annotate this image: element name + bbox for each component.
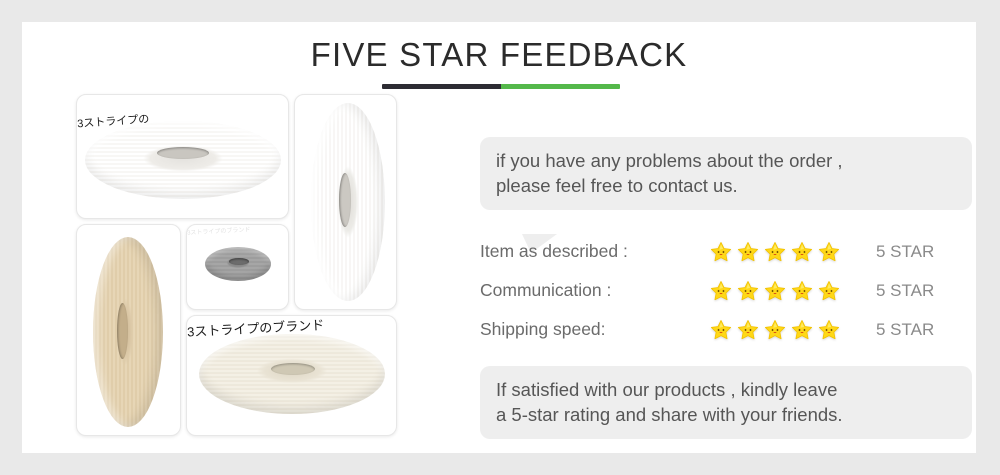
rating-label: Communication : — [480, 280, 710, 301]
star-icon — [764, 241, 786, 263]
product-photo-cream-roll[interactable]: 3ストライプのブランド — [186, 315, 397, 436]
rating-value: 5 STAR — [850, 281, 934, 301]
star-icon — [710, 319, 732, 341]
review-request-bubble: If satisfied with our products , kindly … — [480, 366, 972, 439]
roll-core — [339, 173, 351, 227]
review-request-line1: If satisfied with our products , kindly … — [496, 379, 837, 400]
content-card: FIVE STAR FEEDBACK のブランド 3ストライプの 3スト 3スト… — [22, 22, 976, 453]
star-rating[interactable] — [710, 319, 850, 341]
star-icon — [710, 241, 732, 263]
star-rating[interactable] — [710, 241, 850, 263]
star-icon — [791, 241, 813, 263]
title-underline — [382, 84, 620, 89]
product-photo-beige-roll[interactable]: 3ストライプ — [76, 224, 181, 436]
contact-message-line1: if you have any problems about the order… — [496, 150, 843, 171]
roll-core — [117, 303, 128, 359]
star-icon — [764, 319, 786, 341]
roll-label-side: 3ストライプ — [76, 225, 77, 328]
roll-label: 3ストライプのブランド — [187, 224, 288, 237]
product-photo-white-roll-horizontal[interactable]: のブランド 3ストライプの — [76, 94, 289, 219]
webbing-roll-cream — [199, 334, 385, 414]
star-icon — [737, 319, 759, 341]
star-icon — [737, 280, 759, 302]
rating-row: Shipping speed: 5 STAR — [480, 310, 972, 349]
rating-value: 5 STAR — [850, 320, 934, 340]
feedback-panel: if you have any problems about the order… — [474, 114, 976, 434]
feedback-banner: FIVE STAR FEEDBACK のブランド 3ストライプの 3スト 3スト… — [0, 0, 1000, 475]
webbing-roll-beige — [93, 237, 163, 427]
star-rating[interactable] — [710, 280, 850, 302]
star-icon — [710, 280, 732, 302]
roll-label-side: 3ストライプのブランド — [294, 108, 295, 209]
contact-message-bubble: if you have any problems about the order… — [480, 137, 972, 210]
star-icon — [818, 241, 840, 263]
rating-label: Shipping speed: — [480, 319, 710, 340]
star-icon — [791, 280, 813, 302]
roll-core — [157, 147, 209, 159]
product-photo-gray-roll[interactable]: 3ストライプのブランド — [186, 224, 289, 310]
star-icon — [764, 280, 786, 302]
webbing-roll-gray — [205, 247, 271, 281]
review-request-line2: a 5-star rating and share with your frie… — [496, 402, 956, 427]
webbing-roll-white — [85, 121, 281, 199]
rating-row: Item as described : 5 STAR — [480, 232, 972, 271]
title-underline-green — [501, 84, 620, 89]
star-icon — [737, 241, 759, 263]
contact-message-line2: please feel free to contact us. — [496, 173, 956, 198]
rating-row: Communication : 5 STAR — [480, 271, 972, 310]
star-icon — [791, 319, 813, 341]
rating-list: Item as described : 5 STAR Communication… — [480, 232, 972, 349]
title-underline-dark — [382, 84, 501, 89]
rating-label: Item as described : — [480, 241, 710, 262]
roll-core — [271, 363, 315, 375]
page-title: FIVE STAR FEEDBACK — [22, 36, 976, 74]
star-icon — [818, 280, 840, 302]
webbing-roll-white-vertical — [311, 103, 385, 301]
product-photo-white-roll-vertical[interactable]: 3スト 3ストライプのブランド — [294, 94, 397, 310]
rating-value: 5 STAR — [850, 242, 934, 262]
product-photo-gallery: のブランド 3ストライプの 3スト 3ストライプのブランド 3ストライプ — [70, 90, 460, 435]
roll-core — [229, 258, 249, 265]
star-icon — [818, 319, 840, 341]
